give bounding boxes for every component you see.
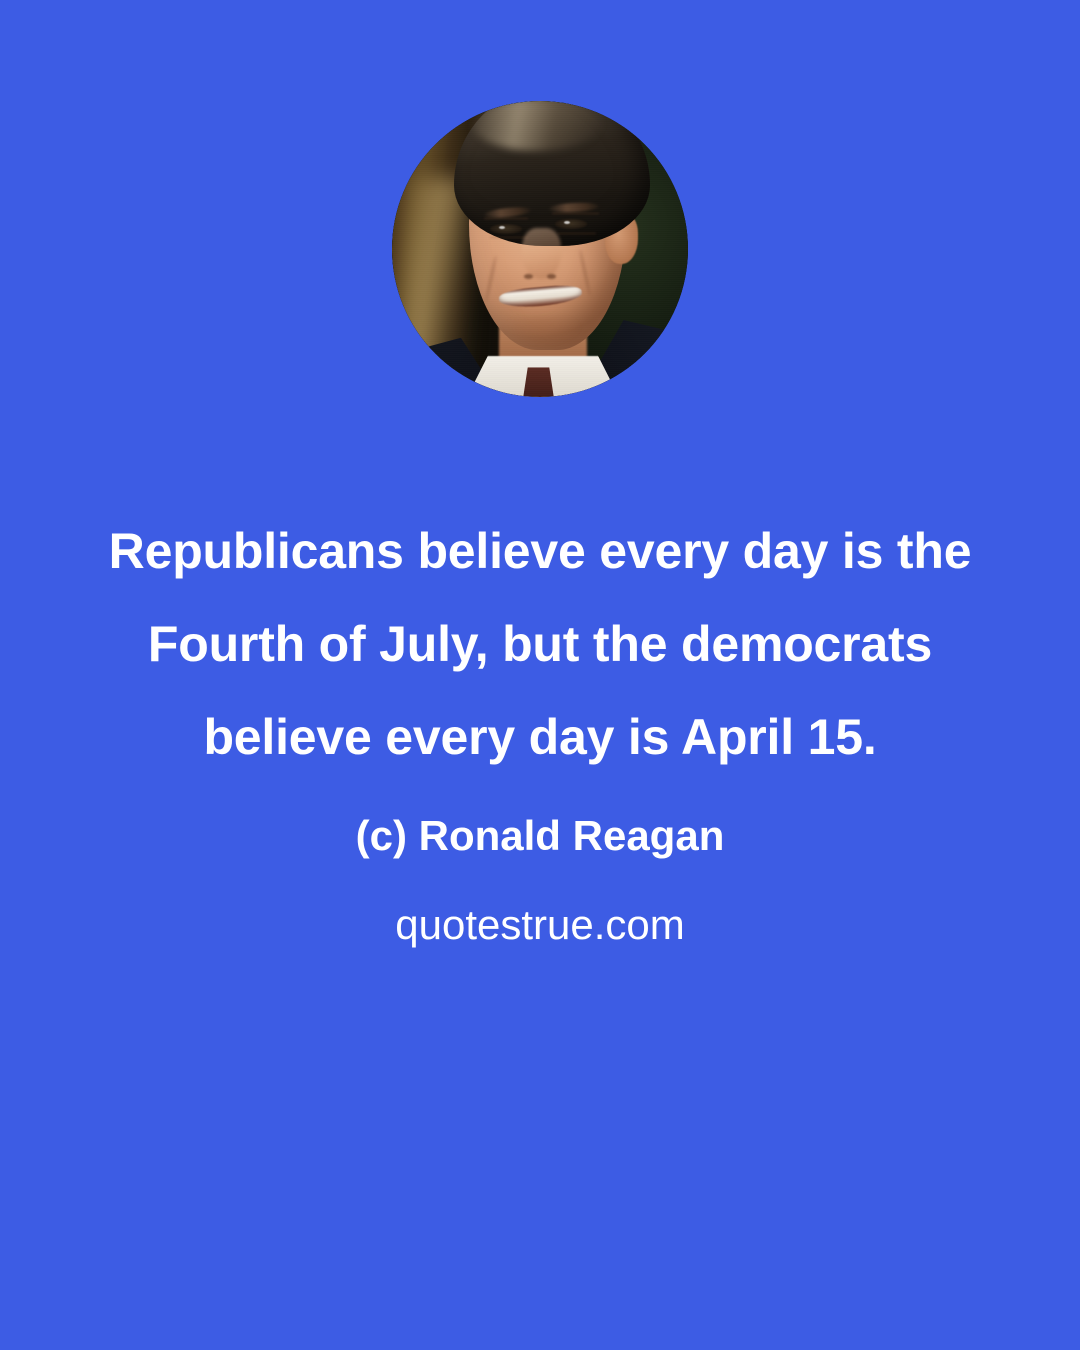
nose [522, 228, 560, 278]
quote-text: Republicans believe every day is the Fou… [90, 505, 990, 784]
chin-shadow [504, 317, 581, 344]
portrait-avatar [392, 101, 688, 397]
quote-card: Republicans believe every day is the Fou… [0, 0, 1080, 1350]
source-website: quotestrue.com [90, 897, 990, 953]
face-crease [490, 237, 528, 238]
nostril [547, 274, 556, 279]
portrait-photo [392, 101, 688, 397]
face-crease [484, 218, 528, 219]
eye-left [490, 224, 523, 234]
face-crease [558, 233, 596, 234]
eye-catchlight [499, 226, 505, 229]
face-crease [552, 213, 599, 214]
quote-attribution: (c) Ronald Reagan [90, 808, 990, 864]
nostril [524, 274, 533, 279]
